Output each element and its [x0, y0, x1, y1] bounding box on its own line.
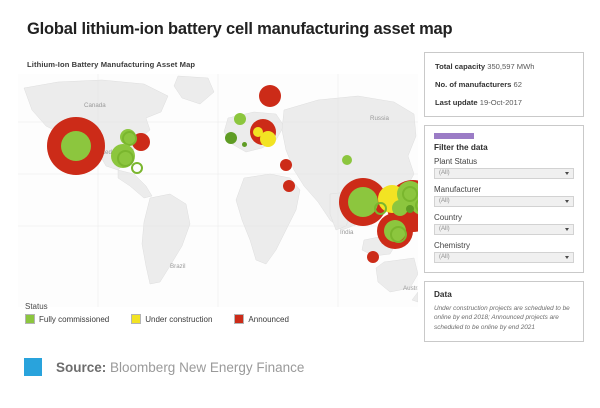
legend-swatch-yellow [131, 314, 141, 324]
filter-value: (All) [439, 198, 450, 204]
summary-card: Total capacity 350,597 MWh No. of manufa… [424, 52, 584, 117]
map-bubble-fully-commissioned[interactable] [225, 132, 237, 144]
filter-label-plant-status: Plant Status [434, 157, 574, 166]
map-label-russia: Russia [370, 115, 389, 122]
data-card-note: Under construction projects are schedule… [434, 304, 574, 332]
data-card-title: Data [434, 290, 574, 299]
filter-label-manufacturer: Manufacturer [434, 185, 574, 194]
filter-card: Filter the data Plant Status (All) Manuf… [424, 125, 584, 273]
map-bubble-fully-commissioned[interactable] [374, 202, 387, 215]
map-bubble-announced[interactable] [280, 159, 292, 171]
map-bubble-fully-commissioned[interactable] [234, 113, 246, 125]
map-legend: Status Fully commissioned Under construc… [25, 302, 289, 324]
map-panel[interactable]: Lithium-Ion Battery Manufacturing Asset … [18, 52, 418, 344]
map-label-india: India [340, 229, 353, 236]
filter-label-chemistry: Chemistry [434, 241, 574, 250]
legend-item-under-construction[interactable]: Under construction [131, 314, 212, 324]
legend-swatch-green [25, 314, 35, 324]
summary-value: 62 [514, 80, 522, 89]
map-bubble-fully-commissioned[interactable] [402, 186, 418, 202]
filter-select-manufacturer[interactable]: (All) [434, 196, 574, 207]
chevron-down-icon [565, 172, 569, 175]
map-bubble-under-construction[interactable] [253, 127, 263, 137]
source-swatch-icon [24, 358, 42, 376]
chevron-down-icon [565, 200, 569, 203]
filter-select-chemistry[interactable]: (All) [434, 252, 574, 263]
dashboard-container: Lithium-Ion Battery Manufacturing Asset … [18, 52, 584, 344]
legend-item-fully-commissioned[interactable]: Fully commissioned [25, 314, 109, 324]
map-bubble-fully-commissioned[interactable] [242, 142, 247, 147]
filter-select-plant-status[interactable]: (All) [434, 168, 574, 179]
map-canvas[interactable]: Canada United States Brazil Russia India… [18, 74, 418, 307]
filter-value: (All) [439, 170, 450, 176]
map-label-australia: Australia [403, 285, 418, 292]
filter-select-country[interactable]: (All) [434, 224, 574, 235]
map-bubble-fully-commissioned[interactable] [131, 162, 143, 174]
summary-row-total-capacity: Total capacity 350,597 MWh [435, 62, 573, 71]
filter-label-country: Country [434, 213, 574, 222]
summary-value: 19-Oct-2017 [480, 98, 522, 107]
map-bubble-fully-commissioned[interactable] [406, 205, 414, 213]
source-footer: Source: Bloomberg New Energy Finance [24, 358, 304, 376]
source-text: Source: Bloomberg New Energy Finance [56, 360, 304, 375]
legend-label: Under construction [145, 315, 212, 324]
map-bubble-announced[interactable] [283, 180, 295, 192]
summary-key: Last update [435, 98, 478, 107]
legend-items: Fully commissioned Under construction An… [25, 314, 289, 324]
legend-swatch-red [234, 314, 244, 324]
filter-value: (All) [439, 254, 450, 260]
map-label-canada: Canada [84, 102, 106, 109]
legend-label: Announced [248, 315, 288, 324]
data-card: Data Under construction projects are sch… [424, 281, 584, 342]
map-bubble-announced[interactable] [259, 85, 281, 107]
right-column: Total capacity 350,597 MWh No. of manufa… [424, 52, 584, 342]
source-label: Source: [56, 360, 106, 375]
map-bubble-fully-commissioned[interactable] [342, 155, 352, 165]
map-bubble-announced[interactable] [367, 251, 379, 263]
filter-title: Filter the data [434, 143, 574, 152]
legend-label: Fully commissioned [39, 315, 109, 324]
map-bubble-fully-commissioned[interactable] [348, 187, 378, 217]
map-label-brazil: Brazil [170, 263, 185, 270]
legend-item-announced[interactable]: Announced [234, 314, 288, 324]
filter-value: (All) [439, 226, 450, 232]
summary-key: No. of manufacturers [435, 80, 511, 89]
summary-row-last-update: Last update 19-Oct-2017 [435, 98, 573, 107]
summary-key: Total capacity [435, 62, 485, 71]
source-name: Bloomberg New Energy Finance [110, 360, 304, 375]
summary-value: 350,597 MWh [487, 62, 534, 71]
summary-row-no-of-manufacturers: No. of manufacturers 62 [435, 80, 573, 89]
page-title: Global lithium-ion battery cell manufact… [27, 20, 452, 39]
filter-accent-bar [434, 133, 474, 139]
map-bubble-fully-commissioned[interactable] [390, 226, 407, 243]
chevron-down-icon [565, 228, 569, 231]
legend-title: Status [25, 302, 289, 311]
map-bubble-fully-commissioned[interactable] [61, 131, 91, 161]
map-title: Lithium-Ion Battery Manufacturing Asset … [27, 60, 195, 69]
chevron-down-icon [565, 256, 569, 259]
